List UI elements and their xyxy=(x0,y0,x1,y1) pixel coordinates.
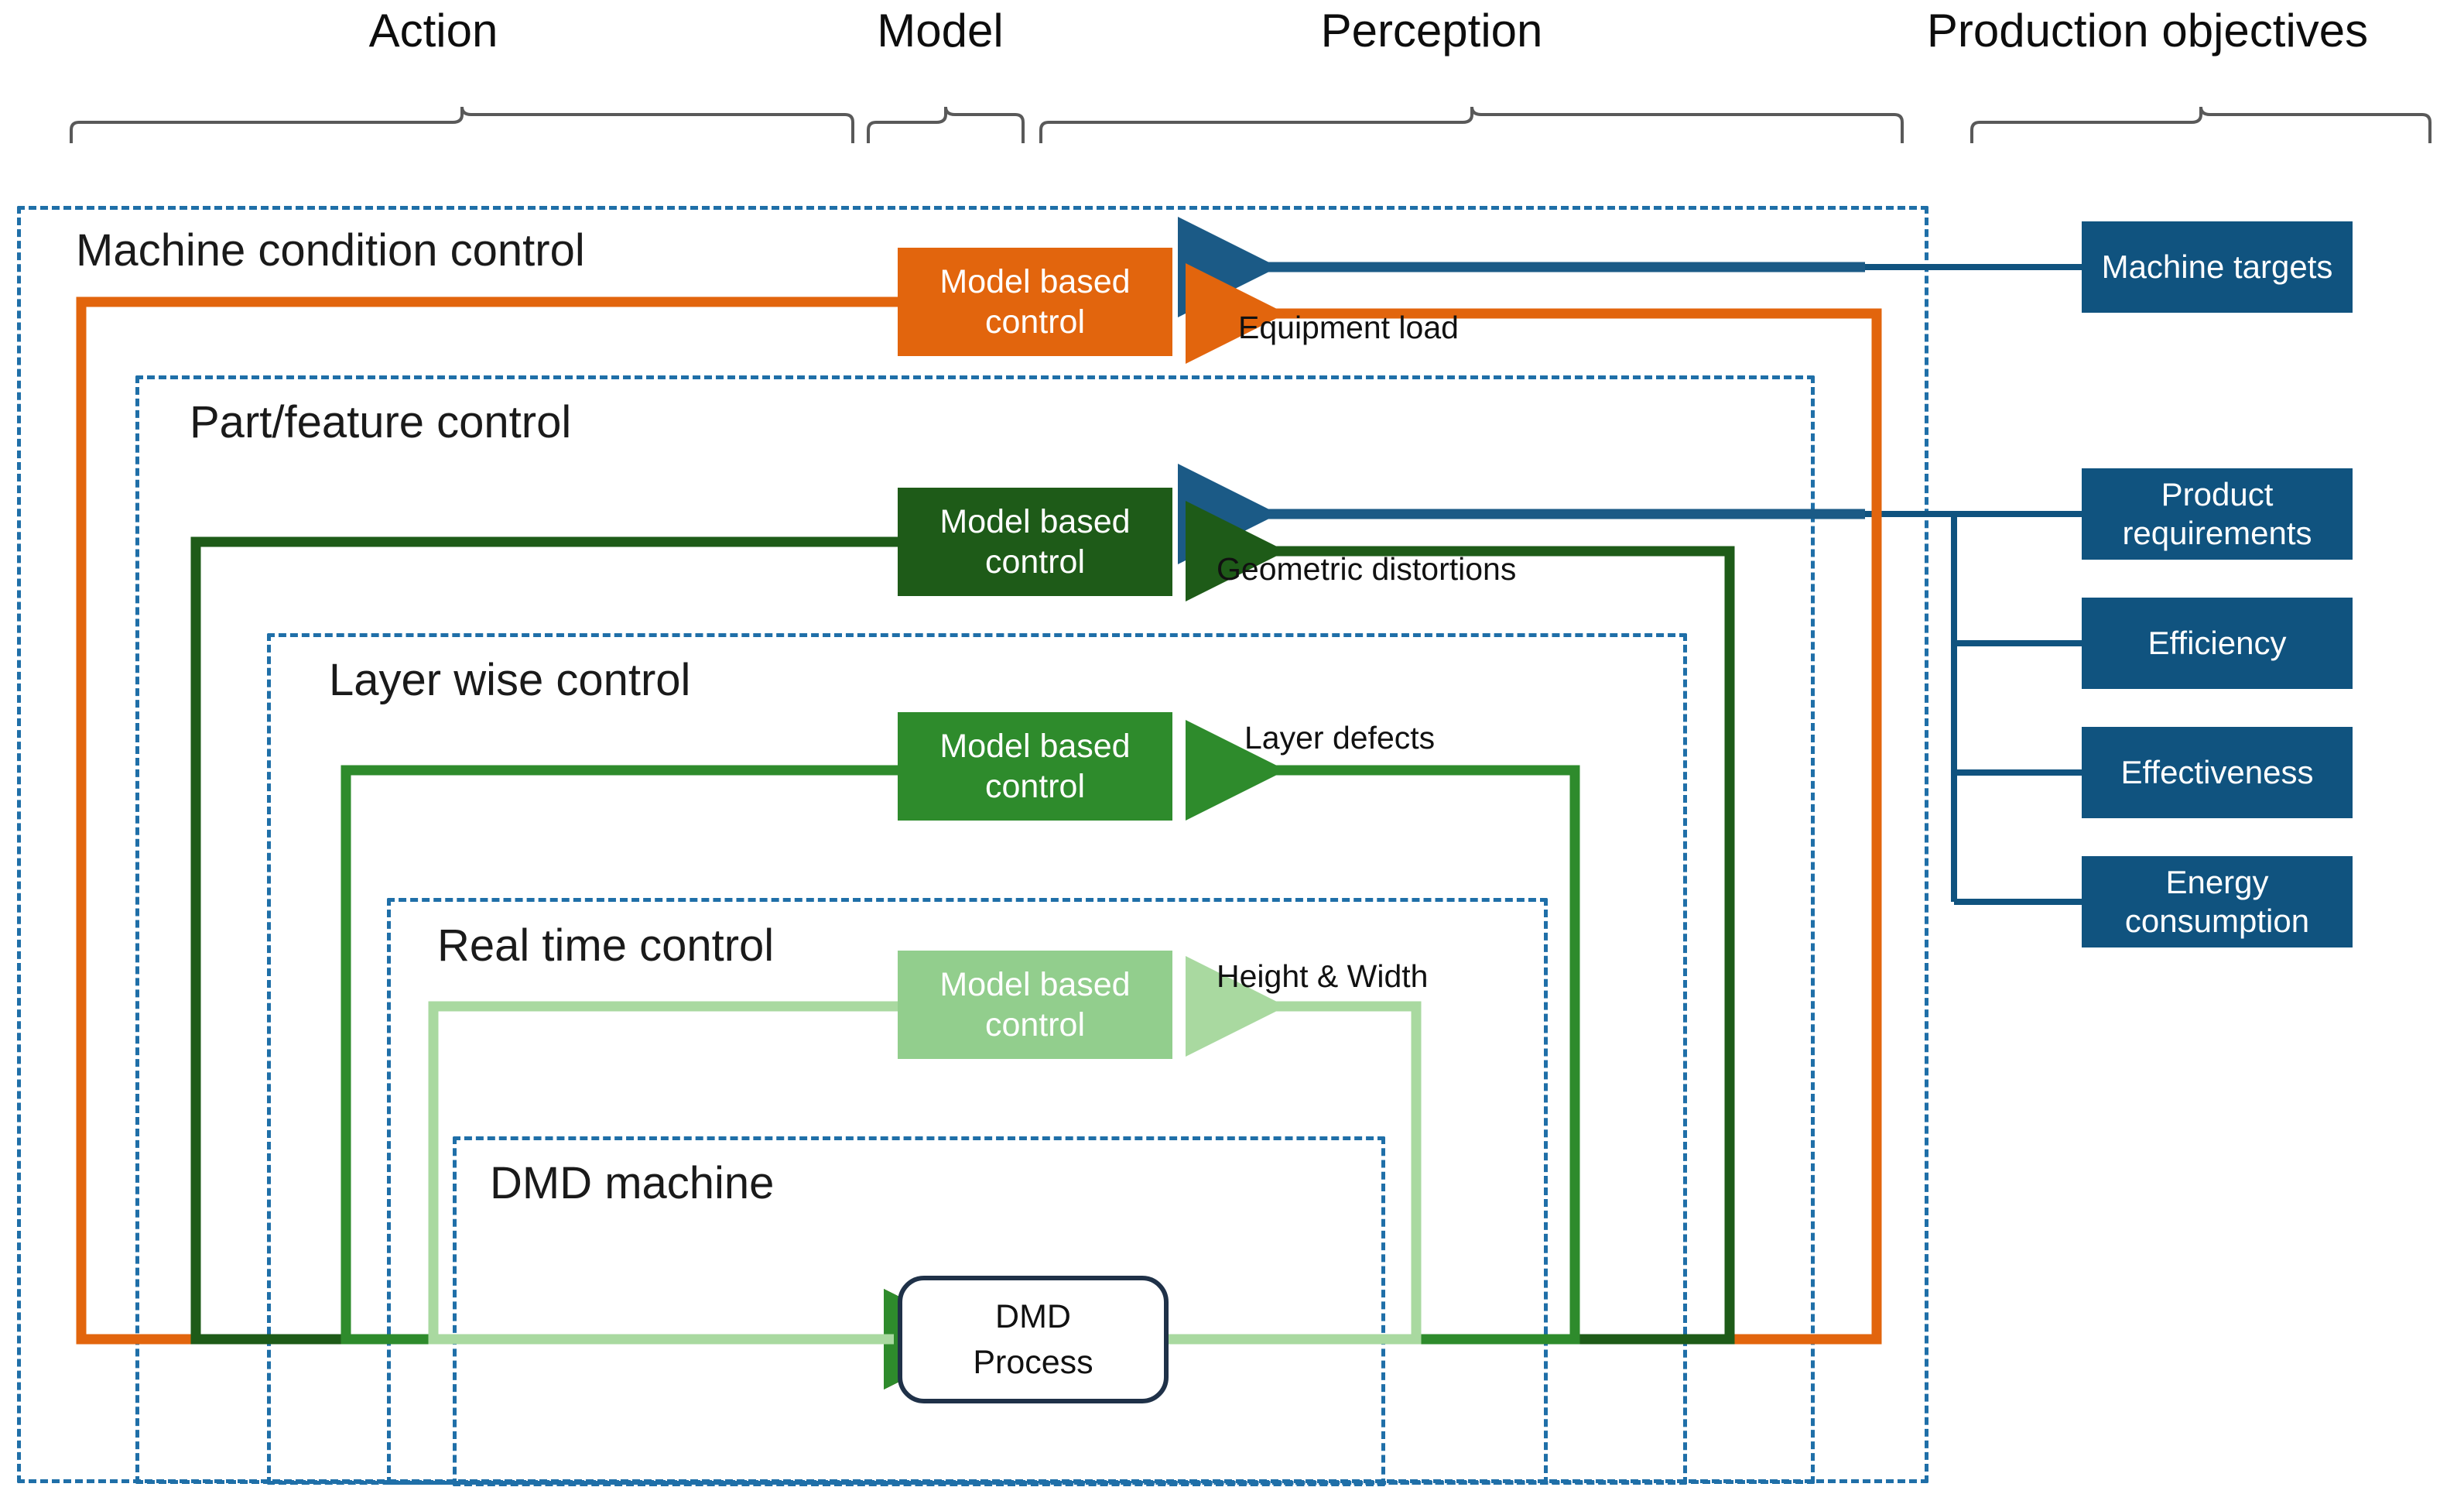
header-label-action: Action xyxy=(325,4,542,57)
objective-box-product-requirements[interactable]: Product requirements xyxy=(2082,468,2353,560)
title-part-feature-control: Part/feature control xyxy=(190,396,571,448)
edge-label-geometric-distortions: Geometric distortions xyxy=(1217,551,1516,588)
header-label-perception: Perception xyxy=(1269,4,1594,57)
mbc-line2-part-feature: control xyxy=(985,542,1085,582)
title-dmd-machine: DMD machine xyxy=(490,1157,774,1209)
title-real-time-control: Real time control xyxy=(437,920,774,971)
dmd-process-line2: Process xyxy=(973,1340,1093,1385)
title-machine-condition-control: Machine condition control xyxy=(76,224,585,276)
model-based-control-box-machine-condition[interactable]: Model based control xyxy=(898,248,1172,356)
title-layer-wise-control: Layer wise control xyxy=(329,654,690,706)
edge-label-equipment-load: Equipment load xyxy=(1238,310,1459,346)
objective-label-machine-targets: Machine targets xyxy=(2102,248,2333,286)
objective-label-energy-consumption: Energy consumption xyxy=(2089,863,2345,941)
edge-label-layer-defects: Layer defects xyxy=(1244,720,1435,756)
header-label-model: Model xyxy=(832,4,1049,57)
model-based-control-box-real-time[interactable]: Model based control xyxy=(898,951,1172,1059)
mbc-line2-layer-wise: control xyxy=(985,766,1085,807)
objective-box-energy-consumption[interactable]: Energy consumption xyxy=(2082,856,2353,947)
mbc-line2-real-time: control xyxy=(985,1005,1085,1045)
mbc-line1-part-feature: Model based xyxy=(939,502,1130,542)
objective-label-efficiency: Efficiency xyxy=(2148,624,2287,663)
model-based-control-box-layer-wise[interactable]: Model based control xyxy=(898,712,1172,821)
objective-box-effectiveness[interactable]: Effectiveness xyxy=(2082,727,2353,818)
brace-group xyxy=(71,107,2430,143)
objective-box-machine-targets[interactable]: Machine targets xyxy=(2082,221,2353,313)
dmd-process-node[interactable]: DMD Process xyxy=(898,1276,1169,1403)
mbc-line1-machine-condition: Model based xyxy=(939,262,1130,302)
header-label-production-objectives: Production objectives xyxy=(1869,4,2426,57)
diagram-canvas: Action Model Perception Production objec… xyxy=(0,0,2464,1494)
dmd-process-line1: DMD xyxy=(995,1294,1071,1339)
mbc-line2-machine-condition: control xyxy=(985,302,1085,342)
mbc-line1-real-time: Model based xyxy=(939,965,1130,1005)
model-based-control-box-part-feature[interactable]: Model based control xyxy=(898,488,1172,596)
edge-label-height-width: Height & Width xyxy=(1217,958,1428,995)
mbc-line1-layer-wise: Model based xyxy=(939,726,1130,766)
objective-label-product-requirements: Product requirements xyxy=(2089,475,2345,553)
objective-box-efficiency[interactable]: Efficiency xyxy=(2082,598,2353,689)
objective-label-effectiveness: Effectiveness xyxy=(2120,753,2313,792)
